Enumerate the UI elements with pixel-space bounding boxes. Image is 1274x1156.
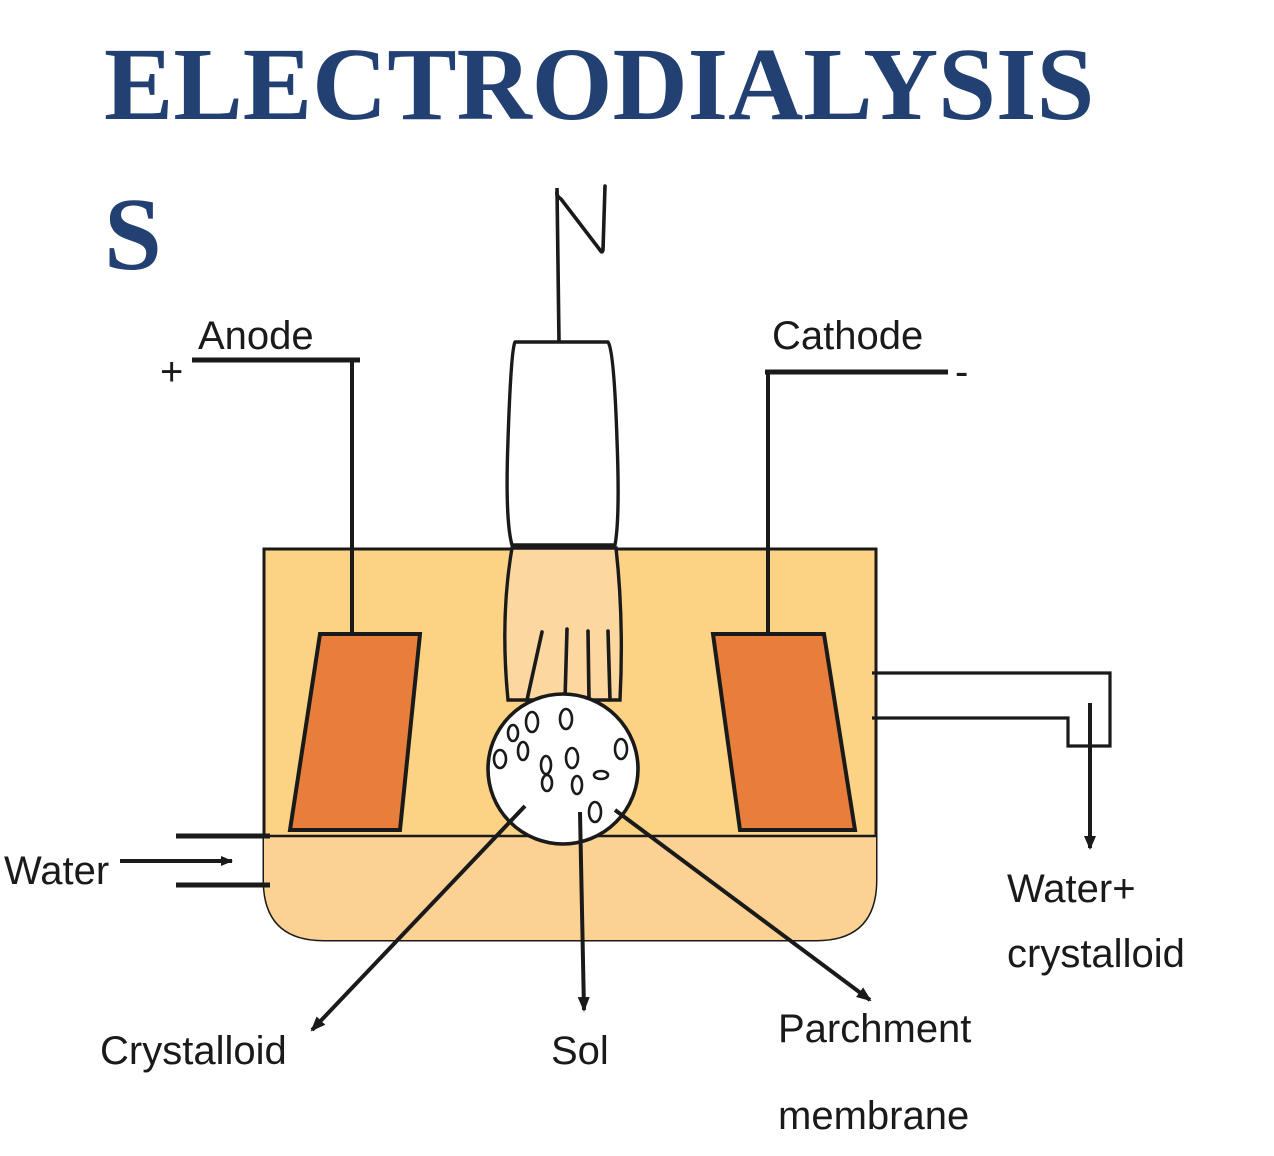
parchment-line2: membrane <box>778 1091 971 1142</box>
parchment-line1: Parchment <box>778 1004 971 1055</box>
white-capsule-vessel <box>507 342 618 545</box>
crystalloid-label: Crystalloid <box>100 1026 287 1077</box>
diagram-canvas: ELECTRODIALYSIS S <box>0 0 1274 1156</box>
outlet-pipe-outline <box>872 673 1110 746</box>
negative-terminal-sign: - <box>955 350 968 395</box>
hand-drawn-zigzag <box>557 186 605 252</box>
positive-terminal-sign: + <box>160 350 183 395</box>
anode-label: Anode <box>198 311 314 362</box>
parchment-membrane-label: Parchment membrane <box>778 1004 971 1142</box>
electrodialysis-diagram <box>0 0 1274 1156</box>
sol-label: Sol <box>551 1026 609 1077</box>
water-inlet-label: Water <box>4 846 109 897</box>
water-crystalloid-outlet-label: Water+ crystalloid <box>1007 864 1185 980</box>
tank-lower-fill <box>264 836 876 940</box>
water-out-line1: Water+ <box>1007 864 1185 915</box>
funnel-neck <box>505 548 622 700</box>
cathode-label: Cathode <box>772 311 923 362</box>
water-out-line2: crystalloid <box>1007 929 1185 980</box>
vessel-stem <box>557 188 559 342</box>
